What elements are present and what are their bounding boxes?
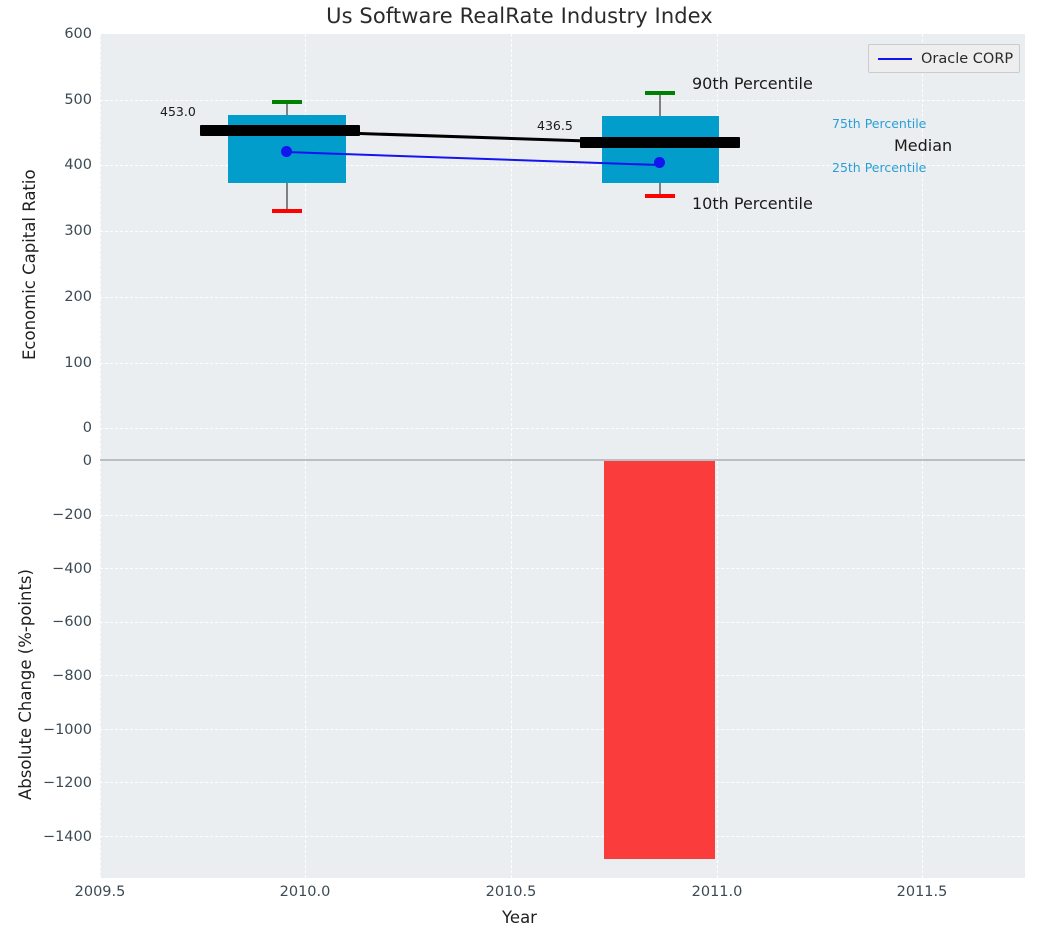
xtick-2009-5: 2009.5 <box>75 884 126 900</box>
whisker-cap-p90-2010 <box>272 100 302 104</box>
lower-plot-area <box>100 461 1025 878</box>
ytick-top-600: 600 <box>0 26 92 42</box>
gridline-x-2011-0 <box>717 34 718 461</box>
ytick-top-400: 400 <box>0 157 92 173</box>
gridline-bot-1000 <box>100 729 1025 730</box>
gridline-x-2010-0-low <box>305 461 306 878</box>
y-axis-label-upper: Economic Capital Ratio <box>20 169 39 360</box>
ytick-top-500: 500 <box>0 92 92 108</box>
oracle-corp-point-2010[interactable] <box>281 146 292 157</box>
annotation-p25: 25th Percentile <box>832 160 926 175</box>
ytick-bot-0: 0 <box>0 453 92 469</box>
legend-label-oracle-corp: Oracle CORP <box>921 51 1013 67</box>
chart-title: Us Software RealRate Industry Index <box>0 4 1039 28</box>
gridline-top-500 <box>100 100 1025 101</box>
gridline-bot-200 <box>100 515 1025 516</box>
annotation-median: Median <box>894 136 952 155</box>
ytick-bot-1200: −1200 <box>0 775 92 791</box>
gridline-top-200 <box>100 297 1025 298</box>
gridline-top-300 <box>100 231 1025 232</box>
gridline-x-2011-5 <box>922 34 923 461</box>
ytick-top-300: 300 <box>0 223 92 239</box>
ytick-bot-200: −200 <box>0 507 92 523</box>
gridline-bot-1200 <box>100 782 1025 783</box>
xtick-2010-5: 2010.5 <box>486 884 537 900</box>
gridline-x-2010-5 <box>511 34 512 461</box>
ytick-top-100: 100 <box>0 355 92 371</box>
ytick-bot-1400: −1400 <box>0 829 92 845</box>
gridline-bot-600 <box>100 622 1025 623</box>
gridline-bot-1400 <box>100 836 1025 837</box>
gridline-top-0 <box>100 428 1025 429</box>
gridline-x-2010-5-low <box>511 461 512 878</box>
ytick-top-200: 200 <box>0 289 92 305</box>
oracle-corp-point-2011[interactable] <box>654 157 665 168</box>
ytick-bot-600: −600 <box>0 614 92 630</box>
xtick-2011-5: 2011.5 <box>897 884 948 900</box>
gridline-top-100 <box>100 363 1025 364</box>
xtick-2011-0: 2011.0 <box>692 884 743 900</box>
gridline-x-2009-5 <box>100 34 101 461</box>
box-iqr-2011 <box>602 116 719 183</box>
x-axis-label: Year <box>0 908 1039 927</box>
annotation-p10: 10th Percentile <box>692 194 813 213</box>
chart-root: Us Software RealRate Industry Index <box>0 0 1039 942</box>
change-bar-2011[interactable] <box>604 461 715 859</box>
gridline-x-2009-5-low <box>100 461 101 878</box>
gridline-bot-800 <box>100 675 1025 676</box>
gridline-x-2011-0-low <box>717 461 718 878</box>
legend-line-swatch <box>878 58 912 60</box>
median-value-2010: 453.0 <box>160 104 196 119</box>
gridline-x-2011-5-low <box>922 461 923 878</box>
ytick-bot-800: −800 <box>0 668 92 684</box>
annotation-p90: 90th Percentile <box>692 74 813 93</box>
upper-plot-area <box>100 34 1025 461</box>
ytick-bot-1000: −1000 <box>0 722 92 738</box>
annotation-p75: 75th Percentile <box>832 116 926 131</box>
whisker-cap-p90-2011 <box>645 91 675 95</box>
y-axis-label-lower: Absolute Change (%-points) <box>16 569 35 800</box>
legend[interactable]: Oracle CORP <box>868 44 1020 73</box>
ytick-top-0: 0 <box>0 420 92 436</box>
whisker-cap-p10-2011 <box>645 194 675 198</box>
median-value-2011: 436.5 <box>537 118 573 133</box>
gridline-bot-400 <box>100 568 1025 569</box>
ytick-bot-400: −400 <box>0 561 92 577</box>
whisker-cap-p10-2010 <box>272 209 302 213</box>
xtick-2010-0: 2010.0 <box>280 884 331 900</box>
gridline-x-2010-0 <box>305 34 306 461</box>
